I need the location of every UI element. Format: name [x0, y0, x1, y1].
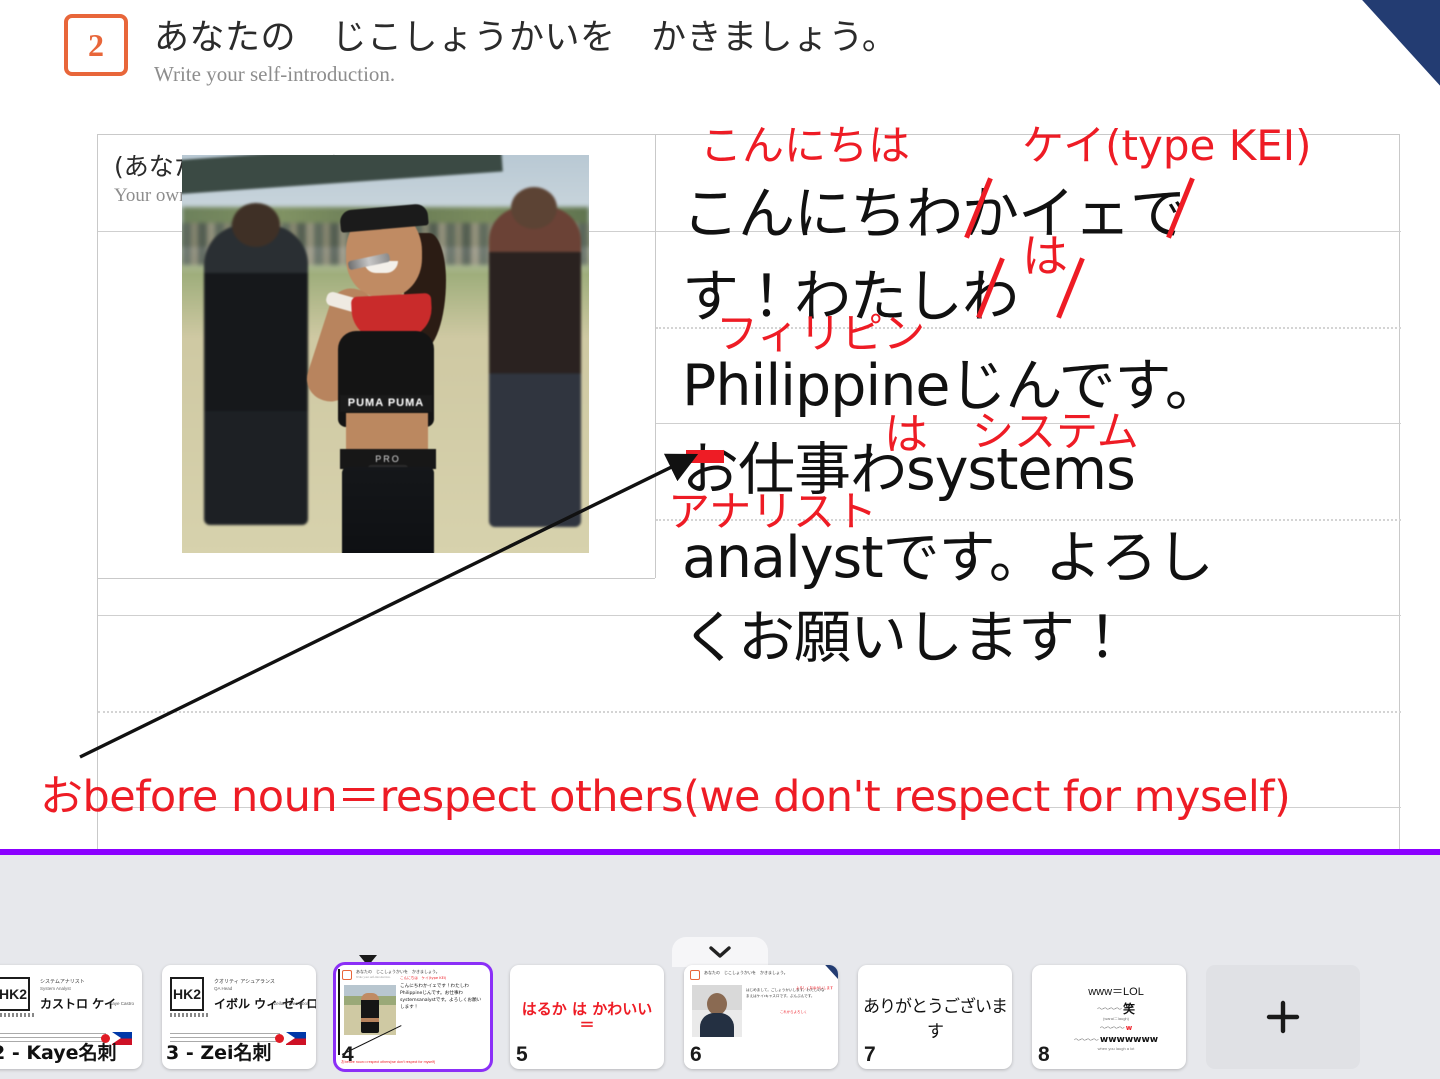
correction-name: ケイ(type KEI): [1022, 112, 1312, 173]
student-text-line-6[interactable]: くお願いします！: [682, 592, 1130, 674]
card-role-katakana: システムアナリスト: [40, 978, 85, 985]
correction-footer-note: おbefore noun＝respect others(we don't res…: [40, 762, 1290, 824]
card-logo-subtext: [0, 1013, 34, 1017]
slide-thumbnail-4[interactable]: あなたの じこしょうかいを かきましょう。 Write your self-in…: [336, 965, 490, 1069]
slide-thumbnail-2[interactable]: HK2 システムアナリスト System Analyst カストロ ケイ Kay…: [0, 965, 142, 1069]
corner-wedge-decoration: [1326, 0, 1440, 90]
slide-label: 2 - Kaye名刺: [0, 1038, 117, 1065]
card-role-english: System Analyst: [40, 986, 71, 991]
question-number-badge: 2: [64, 14, 128, 76]
correction-analyst-katakana: アナリスト: [668, 478, 877, 539]
student-photo[interactable]: PUMA PUMA PRO: [182, 155, 589, 553]
plus-icon: [1262, 996, 1304, 1038]
student-text-line-1[interactable]: こんにちわかイェで: [682, 168, 1186, 250]
card-name-katakana: カストロ ケイ: [40, 995, 116, 1012]
text-list-preview: www＝LOL 〜〜〜〜 笑 (warai＝laugh) 〜〜〜〜 w 〜〜〜〜…: [1032, 965, 1186, 1069]
slide-number: 6: [690, 1043, 702, 1067]
correction-top-mini: こんにちは ケイ(type KEI): [400, 976, 446, 981]
card-logo: HK2: [0, 977, 30, 1011]
photo-box-border: [98, 578, 655, 579]
tilde-prefix: 〜〜〜〜: [1100, 1025, 1124, 1033]
slide-thumbnail-6[interactable]: あなたの じこしょうかいを かきましょう。 はじめまして。ごしょうかいします。わ…: [684, 965, 838, 1069]
correction-footer-mini: おbefore noun＝respect others(we don't res…: [341, 1060, 435, 1065]
worksheet-portrait-preview: あなたの じこしょうかいを かきましょう。 はじめまして。ごしょうかいします。わ…: [684, 965, 838, 1069]
business-card-preview: HK2 システムアナリスト System Analyst カストロ ケイ Kay…: [0, 971, 136, 1047]
business-card-preview: HK2 クオリティ アシュアランス QA Head イボル ウィ ゼイロード Z…: [168, 971, 310, 1047]
slide-thumbnail-list: HK2 システムアナリスト System Analyst カストロ ケイ Kay…: [0, 965, 1440, 1075]
card-role-katakana: クオリティ アシュアランス: [214, 978, 275, 985]
slide-thumbnail-5[interactable]: はるか は かわいい ＝ 5: [510, 965, 664, 1069]
card-name-english: Zeilard Wee Ebol: [274, 1001, 308, 1006]
slide-canvas[interactable]: 2 あなたの じこしょうかいを かきましょう。 Write your self-…: [0, 0, 1440, 849]
prompt-english: Write your self-introduction.: [154, 62, 897, 87]
slide-label: 3 - Zei名刺: [166, 1038, 272, 1065]
slide-thumbnail-3[interactable]: HK2 クオリティ アシュアランス QA Head イボル ウィ ゼイロード Z…: [162, 965, 316, 1069]
prompt-japanese-mini: あなたの じこしょうかいを かきましょう。: [704, 970, 788, 976]
tilde-prefix: 〜〜〜〜: [1074, 1037, 1098, 1045]
question-number-badge-mini: [342, 970, 352, 980]
card-role-english: QA Head: [214, 986, 232, 991]
text-slide-preview: ありがとうございます: [858, 965, 1012, 1069]
add-slide-button[interactable]: [1206, 965, 1360, 1069]
row-value: w: [1126, 1025, 1132, 1033]
slide-thumbnail-7[interactable]: ありがとうございます 7: [858, 965, 1012, 1069]
card-logo-subtext: [170, 1013, 208, 1017]
student-photo-mini: [344, 985, 396, 1035]
slide-number: 8: [1038, 1043, 1050, 1067]
philippines-flag-icon: [286, 1032, 306, 1045]
japan-flag-icon: [275, 1034, 284, 1043]
slide-number: 4: [342, 1043, 354, 1067]
correction-particle-2: は: [884, 398, 928, 462]
student-portrait-mini: [692, 985, 742, 1037]
collapse-panel-button[interactable]: [672, 937, 768, 967]
slide5-main-text: はるか は かわいい: [522, 1000, 652, 1018]
correction-particle-1: は: [1022, 220, 1068, 286]
sheet-column-divider: [655, 135, 656, 578]
slide-filmstrip[interactable]: HK2 システムアナリスト System Analyst カストロ ケイ Kay…: [0, 855, 1440, 1079]
worksheet-preview: あなたの じこしょうかいを かきましょう。 Write your self-in…: [336, 965, 490, 1069]
correction-greeting: こんにちは: [700, 112, 910, 173]
row-caption: (warai＝laugh): [1103, 1016, 1129, 1022]
correction-system-katakana: システム: [972, 398, 1139, 459]
correction-mini-2: これからよろしく: [780, 1009, 807, 1014]
student-text-mini: こんにちわかイェです！わたしわPhilippineじんです。お仕事わsystem…: [400, 983, 484, 1011]
question-number-badge-mini: [690, 970, 700, 980]
row-caption: when you laugh a lot: [1098, 1046, 1135, 1051]
slide7-main-text: ありがとうございます: [858, 992, 1012, 1042]
card-name-english: Kaye Castro: [109, 1001, 134, 1006]
slide-thumbnail-8[interactable]: www＝LOL 〜〜〜〜 笑 (warai＝laugh) 〜〜〜〜 w 〜〜〜〜…: [1032, 965, 1186, 1069]
row-value: 笑: [1123, 1003, 1135, 1016]
row-value: wwwwwww: [1100, 1036, 1158, 1046]
slide8-title: www＝LOL: [1088, 983, 1144, 999]
strike-mark-o-prefix: [686, 450, 724, 463]
slide8-row: 〜〜〜〜 笑: [1097, 1003, 1135, 1016]
slide8-row: 〜〜〜〜 wwwwwww: [1074, 1036, 1158, 1046]
tilde-prefix: 〜〜〜〜: [1097, 1006, 1121, 1014]
prompt-japanese: あなたの じこしょうかいを かきましょう。: [154, 18, 897, 58]
worksheet-prompt: 2 あなたの じこしょうかいを かきましょう。 Write your self-…: [64, 14, 897, 87]
text-slide-preview: はるか は かわいい ＝: [510, 965, 664, 1069]
slide8-row: 〜〜〜〜 w: [1100, 1025, 1132, 1033]
correction-mini-1: よろしくおねがいします: [796, 985, 833, 990]
slide-number: 7: [864, 1043, 876, 1067]
slide-number: 5: [516, 1043, 528, 1067]
guide-line: [98, 711, 1401, 713]
slide5-sub-text: ＝: [522, 1017, 652, 1034]
presentation-editor: 2 あなたの じこしょうかいを かきましょう。 Write your self-…: [0, 0, 1440, 1079]
panel-divider: [0, 849, 1440, 855]
prompt-english-mini: Write your self-introduction.: [356, 975, 390, 979]
card-logo: HK2: [170, 977, 204, 1011]
slide-edge-marker: [338, 969, 340, 1055]
chevron-down-icon: [709, 946, 731, 959]
corner-wedge-mini: [822, 965, 838, 979]
correction-country-katakana: フィリピン: [716, 300, 925, 361]
